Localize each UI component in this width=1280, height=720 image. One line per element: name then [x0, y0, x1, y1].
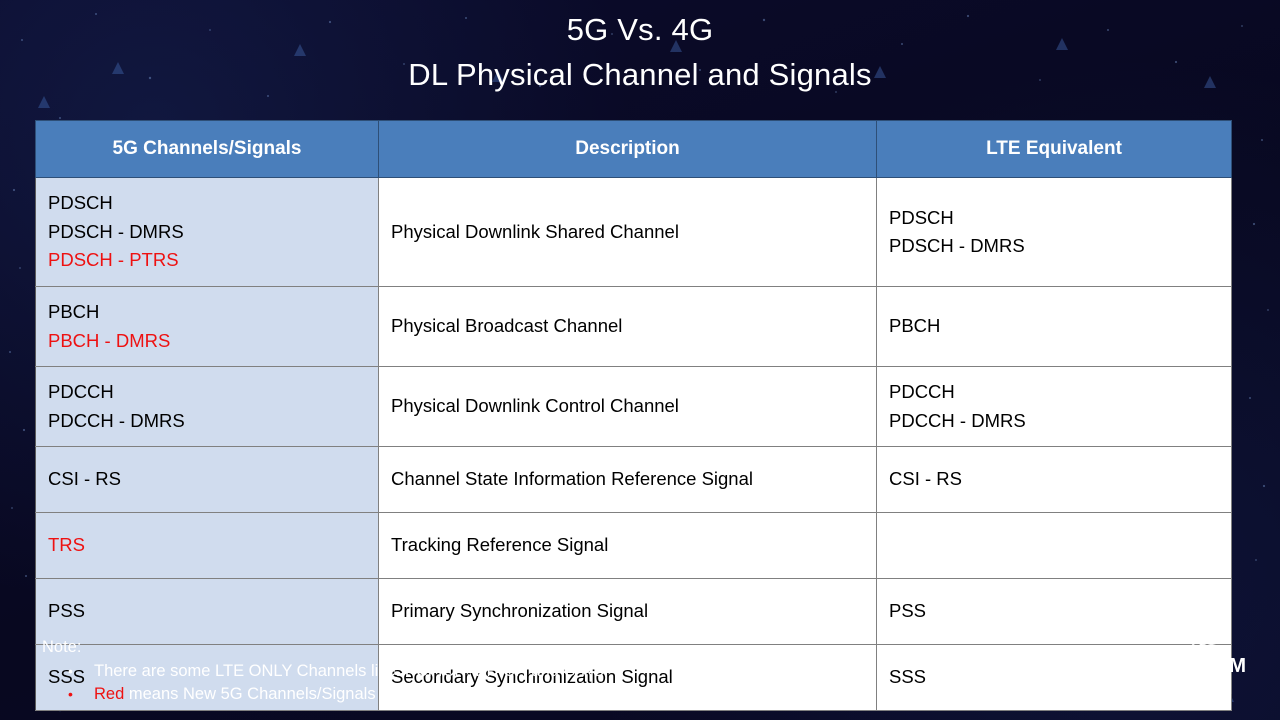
- cell-5g-channels: PBCHPBCH - DMRS: [36, 287, 379, 367]
- cell-lte-equivalent: [877, 513, 1232, 579]
- table-header-row: 5G Channels/Signals Description LTE Equi…: [36, 121, 1232, 178]
- title-line-primary: 5G Vs. 4G: [0, 8, 1280, 52]
- lte-label: PDCCH: [889, 378, 1219, 407]
- bullet-icon: •: [68, 683, 73, 706]
- slide-canvas: 5G Vs. 4G DL Physical Channel and Signal…: [0, 0, 1280, 720]
- column-header-description: Description: [379, 121, 877, 178]
- note-text: means New 5G Channels/Signals Vs. 4G.: [124, 685, 435, 703]
- table-body: PDSCHPDSCH - DMRSPDSCH - PTRSPhysical Do…: [36, 178, 1232, 711]
- cell-description: Physical Downlink Control Channel: [379, 367, 877, 447]
- channel-label-new-5g: PDSCH - PTRS: [48, 246, 366, 275]
- channel-label: PSS: [48, 597, 366, 626]
- lte-label: PBCH: [889, 312, 1219, 341]
- note-item: •There are some LTE ONLY Channels like: …: [42, 660, 842, 683]
- cell-5g-channels: PSS: [36, 579, 379, 645]
- feather-wing-icon: [1144, 628, 1262, 654]
- title-line-secondary: DL Physical Channel and Signals: [0, 52, 1280, 98]
- lte-label: CSI - RS: [889, 465, 1219, 494]
- note-text: There are some LTE ONLY Channels like: P…: [94, 662, 608, 680]
- logo-text-moniem: MONIEM: [1144, 655, 1262, 677]
- notes-title: Note:: [42, 636, 842, 658]
- cell-description: Channel State Information Reference Sign…: [379, 447, 877, 513]
- channel-label-new-5g: TRS: [48, 531, 366, 560]
- table-header: 5G Channels/Signals Description LTE Equi…: [36, 121, 1232, 178]
- cell-5g-channels: PDCCHPDCCH - DMRS: [36, 367, 379, 447]
- lte-label: PDSCH: [889, 204, 1219, 233]
- column-header-5g-channels: 5G Channels/Signals: [36, 121, 379, 178]
- cell-lte-equivalent: PDSCHPDSCH - DMRS: [877, 178, 1232, 287]
- cell-5g-channels: PDSCHPDSCH - DMRSPDSCH - PTRS: [36, 178, 379, 287]
- lte-label: PDSCH - DMRS: [889, 232, 1219, 261]
- table-row: CSI - RSChannel State Information Refere…: [36, 447, 1232, 513]
- channel-label: PDSCH: [48, 189, 366, 218]
- cell-5g-channels: TRS: [36, 513, 379, 579]
- table-row: PDSCHPDSCH - DMRSPDSCH - PTRSPhysical Do…: [36, 178, 1232, 287]
- note-text-highlight: Red: [94, 685, 124, 703]
- moniem-tech-logo: MONIEM TECH: [1144, 628, 1262, 706]
- channel-label: PDSCH - DMRS: [48, 218, 366, 247]
- slide-title: 5G Vs. 4G DL Physical Channel and Signal…: [0, 8, 1280, 98]
- note-item: •Red means New 5G Channels/Signals Vs. 4…: [42, 683, 842, 706]
- lte-label: PDCCH - DMRS: [889, 407, 1219, 436]
- cell-lte-equivalent: PBCH: [877, 287, 1232, 367]
- channel-label-new-5g: PBCH - DMRS: [48, 327, 366, 356]
- logo-text-tech: TECH: [1144, 677, 1262, 699]
- cell-description: Primary Synchronization Signal: [379, 579, 877, 645]
- cell-description: Tracking Reference Signal: [379, 513, 877, 579]
- cell-description: Physical Broadcast Channel: [379, 287, 877, 367]
- lte-label: PSS: [889, 597, 1219, 626]
- cell-lte-equivalent: CSI - RS: [877, 447, 1232, 513]
- channel-label: PDCCH - DMRS: [48, 407, 366, 436]
- notes-list: •There are some LTE ONLY Channels like: …: [42, 660, 842, 706]
- notes-section: Note: •There are some LTE ONLY Channels …: [42, 636, 842, 706]
- channel-comparison-table: 5G Channels/Signals Description LTE Equi…: [35, 120, 1232, 711]
- table-row: PSSPrimary Synchronization SignalPSS: [36, 579, 1232, 645]
- column-header-lte-equivalent: LTE Equivalent: [877, 121, 1232, 178]
- cell-5g-channels: CSI - RS: [36, 447, 379, 513]
- table-row: TRSTracking Reference Signal: [36, 513, 1232, 579]
- comparison-table-container: 5G Channels/Signals Description LTE Equi…: [35, 120, 1231, 711]
- cell-lte-equivalent: PDCCHPDCCH - DMRS: [877, 367, 1232, 447]
- channel-label: PDCCH: [48, 378, 366, 407]
- cell-description: Physical Downlink Shared Channel: [379, 178, 877, 287]
- channel-label: CSI - RS: [48, 465, 366, 494]
- table-row: PBCHPBCH - DMRSPhysical Broadcast Channe…: [36, 287, 1232, 367]
- channel-label: PBCH: [48, 298, 366, 327]
- table-row: PDCCHPDCCH - DMRSPhysical Downlink Contr…: [36, 367, 1232, 447]
- bullet-icon: •: [68, 660, 73, 683]
